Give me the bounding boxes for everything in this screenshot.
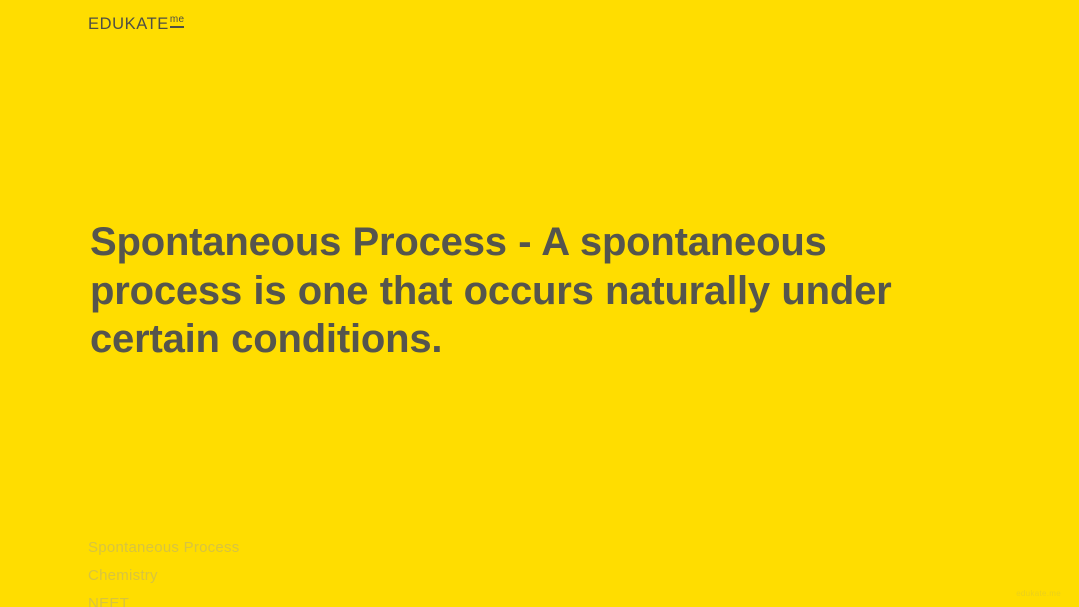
footer-meta-exam: NEET <box>88 590 240 607</box>
footer-meta: Spontaneous Process Chemistry NEET <box>88 534 240 607</box>
corner-watermark: edukate.me <box>1016 589 1061 598</box>
brand-name: EDUKATE <box>88 16 169 33</box>
slide-headline: Spontaneous Process - A spontaneous proc… <box>90 218 970 364</box>
brand-suffix: me <box>170 15 184 28</box>
brand-logo[interactable]: EDUKATE me <box>88 16 184 33</box>
slide-canvas: EDUKATE me Spontaneous Process - A spont… <box>0 0 1079 607</box>
footer-meta-topic: Spontaneous Process <box>88 534 240 562</box>
footer-meta-subject: Chemistry <box>88 562 240 590</box>
